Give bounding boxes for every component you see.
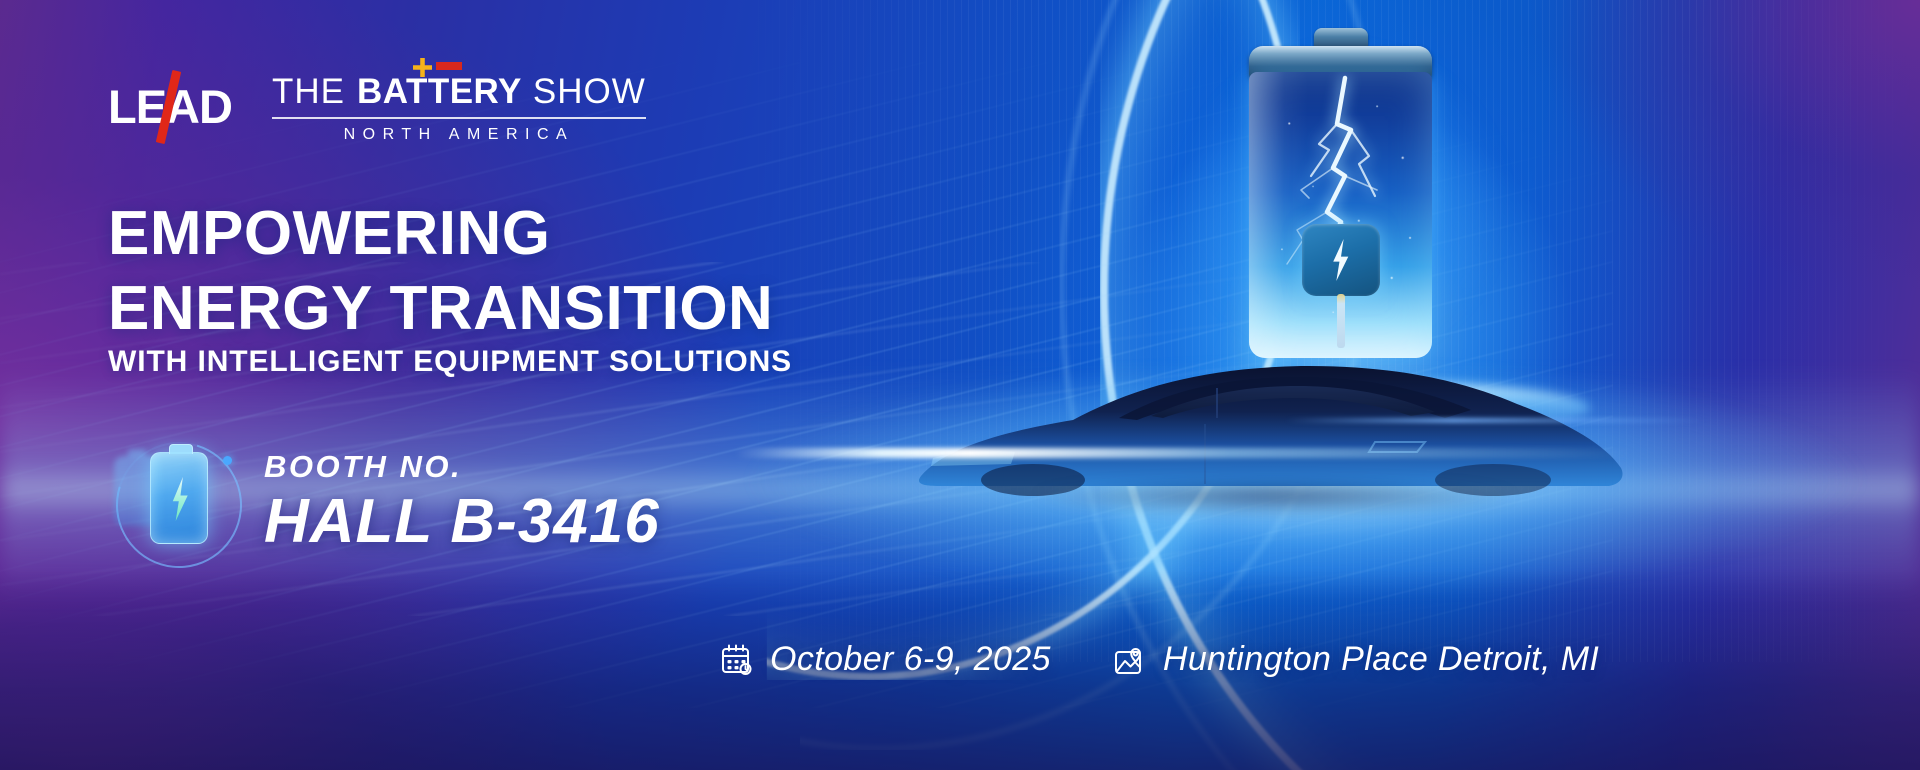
battery-show-logo[interactable]: THE BATTERY SHOW NORTH AMERICA — [272, 70, 646, 144]
event-date-item: October 6-9, 2025 — [720, 640, 1051, 679]
logo-row: LEAD THE BATTERY SHOW NORTH AMERICA — [108, 70, 646, 144]
booth-text: BOOTH NO. HALL B-3416 — [264, 447, 660, 563]
battery-show-the: THE — [272, 72, 345, 112]
calendar-icon — [720, 643, 754, 677]
minus-icon — [436, 62, 462, 70]
lead-logo[interactable]: LEAD — [108, 78, 228, 136]
booth-icon-battery — [150, 452, 208, 544]
battery-show-show: SHOW — [533, 72, 646, 112]
battery-show-logo-wordmark: THE BATTERY SHOW — [272, 72, 646, 112]
promo-banner: LEAD THE BATTERY SHOW NORTH AMERICA EMPO… — [0, 0, 1920, 770]
car-shadow — [935, 472, 1615, 520]
car-light-streak-secondary — [1285, 418, 1705, 423]
booth-label: BOOTH NO. — [264, 447, 660, 487]
subheadline: WITH INTELLIGENT EQUIPMENT SOLUTIONS — [108, 345, 792, 379]
charging-block-bolt-icon — [1302, 224, 1380, 296]
electric-car-silhouette — [905, 352, 1635, 510]
event-info-row: October 6-9, 2025 Huntington Place Detro… — [720, 640, 1599, 679]
battery-show-region: NORTH AMERICA — [272, 126, 646, 144]
booth-icon-dot — [223, 456, 232, 465]
battery-body — [1249, 72, 1432, 358]
booth-icon-bolt — [168, 477, 192, 521]
battery-cell-lightning-graphic — [1243, 28, 1438, 358]
battery-show-logo-divider — [272, 117, 646, 119]
booth-block: BOOTH NO. HALL B-3416 — [110, 430, 660, 580]
battery-bolt-icon — [110, 430, 250, 580]
map-pin-icon — [1113, 643, 1147, 677]
event-location-text: Huntington Place Detroit, MI — [1163, 640, 1599, 679]
charging-cable — [1337, 294, 1345, 348]
car-light-streak — [735, 448, 1635, 458]
headline-line-2: ENERGY TRANSITION — [108, 271, 773, 346]
bolt-glyph-icon — [1328, 239, 1354, 281]
headline-line-1: EMPOWERING — [108, 199, 550, 268]
event-date-text: October 6-9, 2025 — [770, 640, 1051, 679]
battery-show-battery: BATTERY — [357, 72, 522, 112]
event-location-item: Huntington Place Detroit, MI — [1113, 640, 1599, 679]
booth-number: HALL B-3416 — [264, 487, 660, 557]
headline: EMPOWERING ENERGY TRANSITION — [108, 196, 773, 346]
